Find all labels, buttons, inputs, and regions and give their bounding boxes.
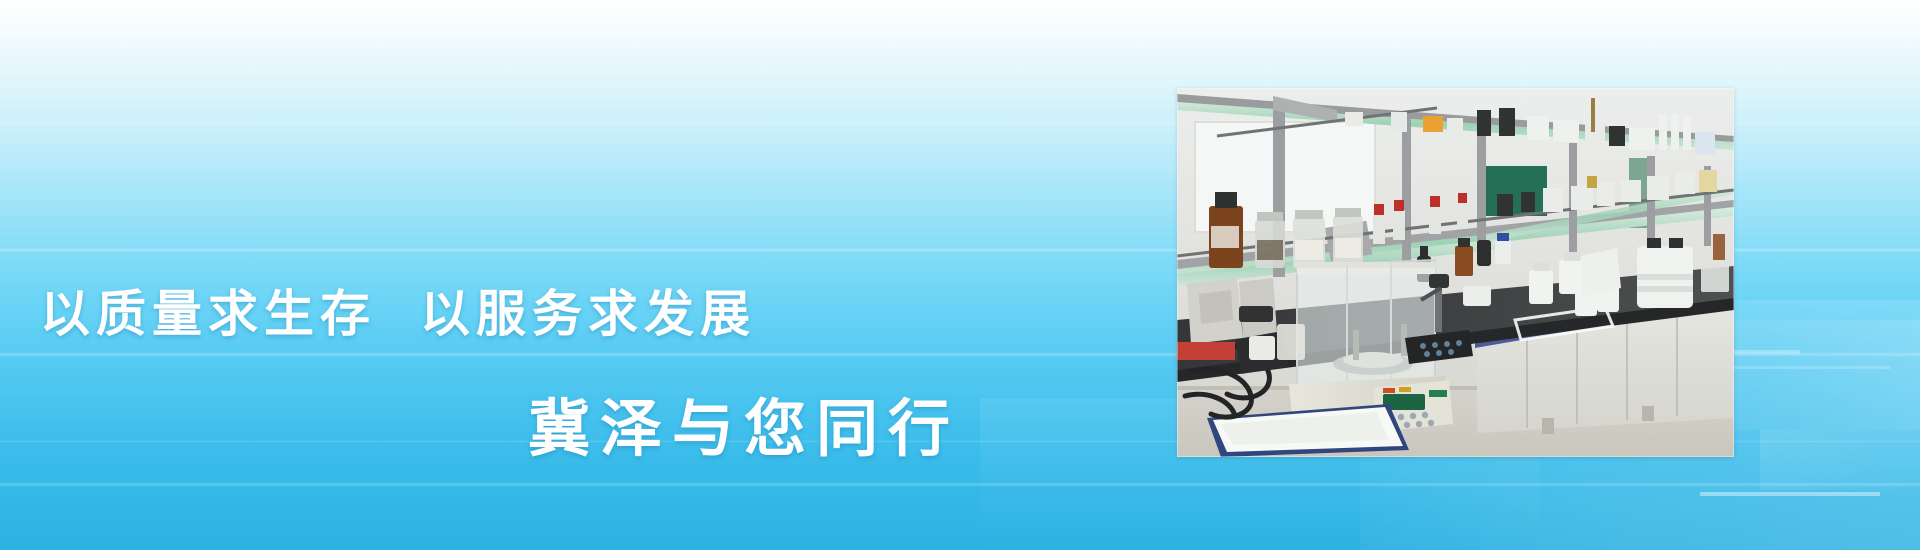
slogan-phrase-service: 以服务求发展 xyxy=(420,284,756,343)
lab-photo-illustration xyxy=(1177,88,1734,457)
slogan-phrase-quality: 以质量求生存 xyxy=(40,284,376,343)
promotional-banner: 以质量求生存以服务求发展 冀泽与您同行 xyxy=(0,0,1920,550)
slogan-line-2: 冀泽与您同行 xyxy=(528,378,960,468)
background-band xyxy=(0,482,1920,487)
lab-photo xyxy=(1177,88,1734,457)
background-highlight-line xyxy=(1700,492,1880,496)
background-wash xyxy=(1760,430,1920,490)
slogan-line-1: 以质量求生存以服务求发展 xyxy=(40,274,756,346)
